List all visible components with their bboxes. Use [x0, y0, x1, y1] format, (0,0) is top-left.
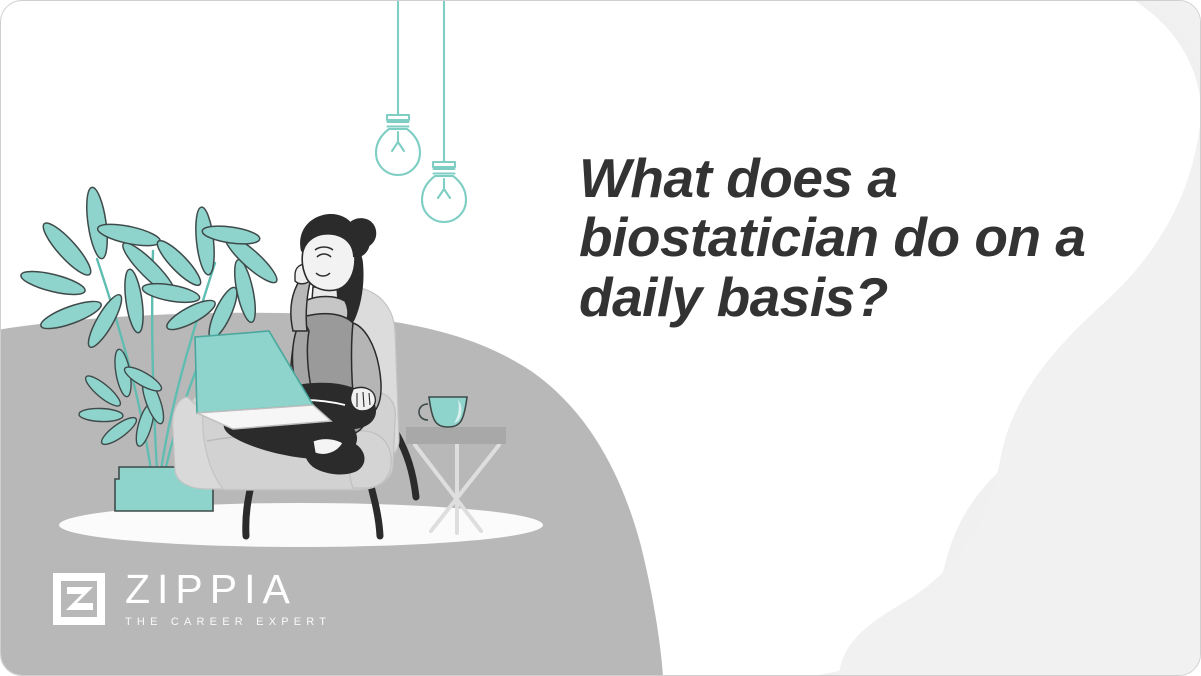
promo-card: What does a biostatician do on a daily b…	[0, 0, 1201, 676]
brand-wordmark: ZIPPIA	[125, 569, 331, 610]
brand-logo[interactable]: ZIPPIA THE CAREER EXPERT	[51, 569, 331, 628]
logo-square-outline-right	[97, 573, 105, 625]
page-title: What does a biostatician do on a daily b…	[579, 149, 1139, 327]
brand-tagline: THE CAREER EXPERT	[125, 617, 331, 628]
logo-z-glyph	[66, 587, 93, 610]
zippia-z-mark-icon	[51, 571, 107, 627]
brand-wordmark-group: ZIPPIA THE CAREER EXPERT	[125, 569, 331, 628]
laptop-screen	[195, 331, 313, 413]
